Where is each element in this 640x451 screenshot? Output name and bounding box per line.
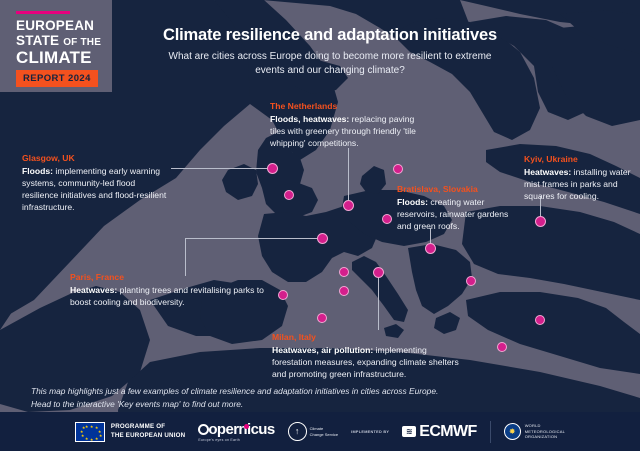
map-dot-marseille[interactable] (339, 286, 349, 296)
report-brand-block: EUROPEAN STATE OF THE CLIMATE REPORT 202… (0, 0, 112, 92)
callout-body-netherlands: Floods, heatwaves: replacing paving tile… (270, 113, 430, 150)
logo-bar: ★ ★ ★ ★ ★ ★ ★ ★ ★ ★ ★ PROGRAMME OF THE E… (0, 412, 640, 451)
map-dot-bratislava[interactable] (425, 243, 436, 254)
callout-city-kyiv: Kyiv, Ukraine (524, 154, 636, 164)
callout-milan: Milan, Italy Heatwaves, air pollution: i… (272, 332, 468, 380)
map-dot-manchester[interactable] (284, 190, 294, 200)
map-dot-denmark[interactable] (393, 164, 403, 174)
eu-flag-icon: ★ ★ ★ ★ ★ ★ ★ ★ ★ ★ ★ (75, 422, 105, 442)
callout-body-paris: Heatwaves: planting trees and revitalisi… (70, 284, 270, 308)
copernicus-text: opernicus (208, 421, 274, 438)
map-dot-hungary[interactable] (466, 276, 476, 286)
brand-line-1: EUROPEAN (16, 19, 94, 33)
eu-programme-label: PROGRAMME OF THE EUROPEAN UNION (111, 423, 185, 440)
copernicus-dot-icon (244, 424, 249, 429)
page-subtitle: What are cities across Europe doing to b… (160, 50, 500, 77)
callout-city-bratislava: Bratislava, Slovakia (397, 184, 517, 194)
map-dot-germany[interactable] (382, 214, 392, 224)
callout-hazard-paris: Heatwaves: (70, 285, 117, 295)
implemented-by-label: IMPLEMENTED BY (351, 430, 389, 434)
wmo-label: WORLD METEOROLOGICAL ORGANIZATION (525, 423, 565, 439)
climate-change-service-logo: ↑ Climate Change Service (288, 422, 338, 441)
callout-body-glasgow: Floods: implementing early warning syste… (22, 165, 172, 214)
leader-line-paris-horizontal (185, 238, 322, 239)
wmo-line-3: ORGANIZATION (525, 434, 565, 439)
callout-body-bratislava: Floods: creating water reservoirs, rainw… (397, 196, 517, 233)
leader-line-netherlands (348, 148, 349, 205)
infographic-page: EUROPEAN STATE OF THE CLIMATE REPORT 202… (0, 0, 640, 451)
ccs-label: Climate Change Service (310, 426, 338, 436)
leader-line-glasgow (171, 168, 270, 169)
brand-accent-rule (16, 11, 70, 14)
copernicus-wordmark: opernicus (198, 422, 274, 437)
map-dot-glasgow[interactable] (267, 163, 278, 174)
brand-line-2: STATE OF THE (16, 34, 101, 48)
map-dot-spain[interactable] (278, 290, 288, 300)
map-dot-netherlands[interactable] (343, 200, 354, 211)
callout-body-milan: Heatwaves, air pollution: implementing f… (272, 344, 468, 381)
ccs-arc-icon: ↑ (288, 422, 307, 441)
map-dot-kyiv[interactable] (535, 216, 546, 227)
eu-programme-line-1: PROGRAMME OF (111, 423, 185, 431)
leader-line-milan (378, 272, 379, 330)
callout-netherlands: The Netherlands Floods, heatwaves: repla… (270, 101, 430, 149)
ecmwf-wordmark: ECMWF (419, 424, 476, 440)
wmo-globe-icon: ✸ (504, 423, 521, 440)
logo-divider (490, 421, 491, 443)
callout-city-glasgow: Glasgow, UK (22, 153, 172, 163)
footnote-line-1: This map highlights just a few examples … (31, 385, 501, 398)
callout-hazard-glasgow: Floods: (22, 166, 53, 176)
callout-hazard-bratislava: Floods: (397, 197, 428, 207)
callout-hazard-netherlands: Floods, heatwaves: (270, 114, 349, 124)
map-footnote: This map highlights just a few examples … (31, 385, 501, 410)
callout-paris: Paris, France Heatwaves: planting trees … (70, 272, 270, 308)
ecmwf-logo: ≋ ECMWF (402, 424, 476, 440)
leader-line-paris-vertical (185, 238, 186, 276)
footnote-line-2: Head to the interactive 'Key events map'… (31, 398, 501, 411)
brand-line-2-main: STATE (16, 33, 59, 48)
map-dot-paris[interactable] (317, 233, 328, 244)
callout-city-netherlands: The Netherlands (270, 101, 430, 111)
callout-city-paris: Paris, France (70, 272, 270, 282)
brand-line-3: CLIMATE (16, 49, 92, 66)
map-dot-romania[interactable] (535, 315, 545, 325)
copernicus-logo: opernicus Europe's eyes on Earth (198, 422, 274, 442)
callout-hazard-milan: Heatwaves, air pollution: (272, 345, 373, 355)
wmo-logo: ✸ WORLD METEOROLOGICAL ORGANIZATION (504, 423, 565, 440)
eu-logo-group: ★ ★ ★ ★ ★ ★ ★ ★ ★ ★ ★ PROGRAMME OF THE E… (75, 422, 185, 442)
map-dot-greece[interactable] (497, 342, 507, 352)
copernicus-tagline: Europe's eyes on Earth (198, 438, 240, 442)
callout-hazard-kyiv: Heatwaves: (524, 167, 571, 177)
map-dot-lyon[interactable] (339, 267, 349, 277)
ccs-line-2: Change Service (310, 432, 338, 437)
report-year-badge: REPORT 2024 (16, 70, 98, 87)
callout-glasgow: Glasgow, UK Floods: implementing early w… (22, 153, 172, 214)
page-title: Climate resilience and adaptation initia… (150, 26, 510, 45)
map-dot-milan[interactable] (373, 267, 384, 278)
callout-body-kyiv: Heatwaves: installing water mist frames … (524, 166, 636, 203)
callout-bratislava: Bratislava, Slovakia Floods: creating wa… (397, 184, 517, 232)
callout-kyiv: Kyiv, Ukraine Heatwaves: installing wate… (524, 154, 636, 202)
ecmwf-mark-icon: ≋ (402, 426, 416, 437)
map-dot-barcelona[interactable] (317, 313, 327, 323)
eu-programme-line-2: THE EUROPEAN UNION (111, 432, 185, 440)
callout-city-milan: Milan, Italy (272, 332, 468, 342)
brand-line-2-small: OF THE (63, 37, 101, 48)
